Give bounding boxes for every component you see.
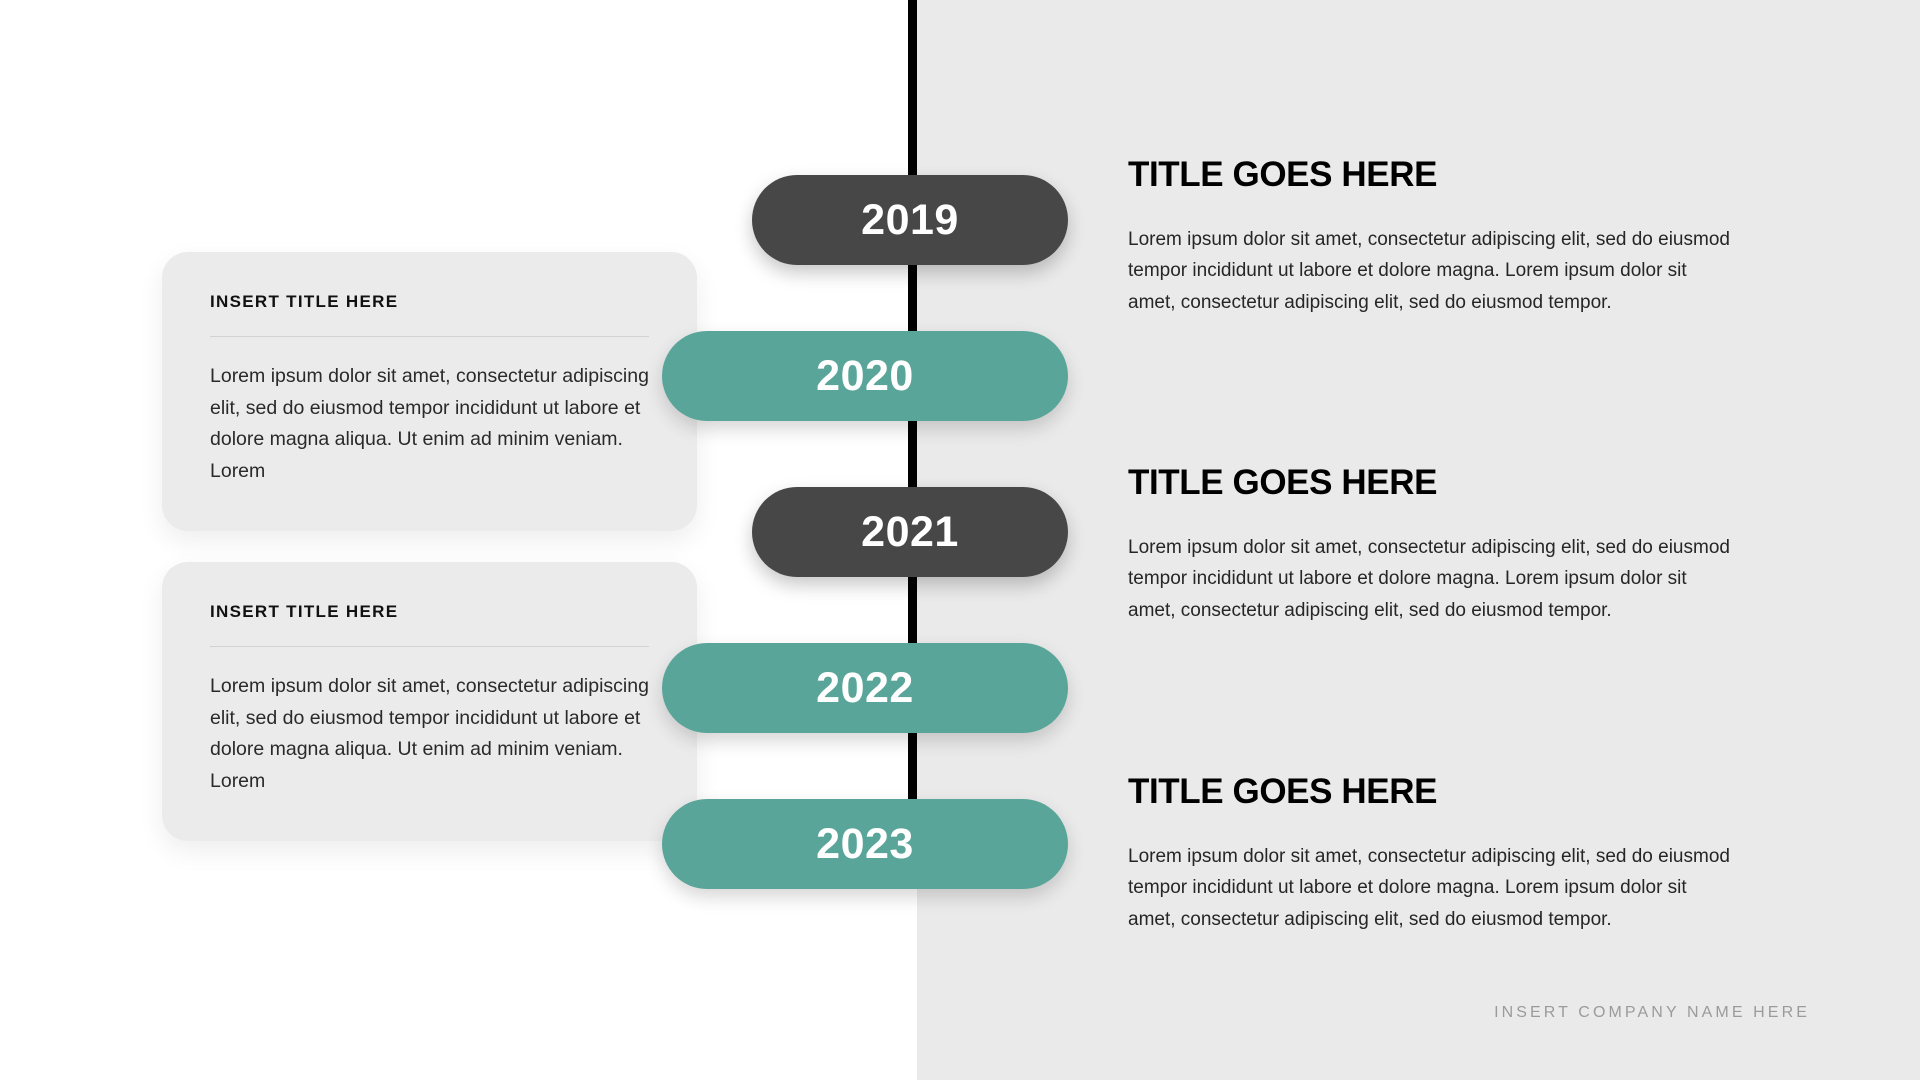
milestone-year-label: 2023 [816, 823, 914, 866]
block-body-text: Lorem ipsum dolor sit amet, consectetur … [1128, 841, 1738, 935]
timeline-milestone-2020[interactable]: 2020 [662, 331, 1068, 421]
timeline-milestone-2022[interactable]: 2022 [662, 643, 1068, 733]
milestone-year-label: 2019 [861, 199, 959, 242]
card-body-text: Lorem ipsum dolor sit amet, consectetur … [210, 361, 649, 487]
timeline-milestone-2021[interactable]: 2021 [752, 487, 1068, 577]
left-info-card-1: INSERT TITLE HERE Lorem ipsum dolor sit … [162, 252, 697, 531]
milestone-year-label: 2020 [816, 355, 914, 398]
card-divider [210, 646, 649, 647]
card-title: INSERT TITLE HERE [210, 292, 649, 312]
card-body-text: Lorem ipsum dolor sit amet, consectetur … [210, 671, 649, 797]
block-body-text: Lorem ipsum dolor sit amet, consectetur … [1128, 532, 1738, 626]
timeline-milestone-2023[interactable]: 2023 [662, 799, 1068, 889]
card-divider [210, 336, 649, 337]
right-content-block-3: TITLE GOES HERE Lorem ipsum dolor sit am… [1128, 772, 1738, 935]
right-content-block-1: TITLE GOES HERE Lorem ipsum dolor sit am… [1128, 155, 1738, 318]
left-info-card-2: INSERT TITLE HERE Lorem ipsum dolor sit … [162, 562, 697, 841]
company-name-footer: INSERT COMPANY NAME HERE [1494, 1004, 1810, 1022]
right-content-block-2: TITLE GOES HERE Lorem ipsum dolor sit am… [1128, 463, 1738, 626]
timeline-milestone-2019[interactable]: 2019 [752, 175, 1068, 265]
card-title: INSERT TITLE HERE [210, 602, 649, 622]
block-title: TITLE GOES HERE [1128, 463, 1738, 503]
block-title: TITLE GOES HERE [1128, 772, 1738, 812]
timeline-infographic: 2019 2020 2021 2022 2023 INSERT TITLE HE… [0, 0, 1920, 1080]
block-body-text: Lorem ipsum dolor sit amet, consectetur … [1128, 224, 1738, 318]
milestone-year-label: 2022 [816, 667, 914, 710]
block-title: TITLE GOES HERE [1128, 155, 1738, 195]
milestone-year-label: 2021 [861, 511, 959, 554]
timeline-spine [908, 0, 917, 880]
